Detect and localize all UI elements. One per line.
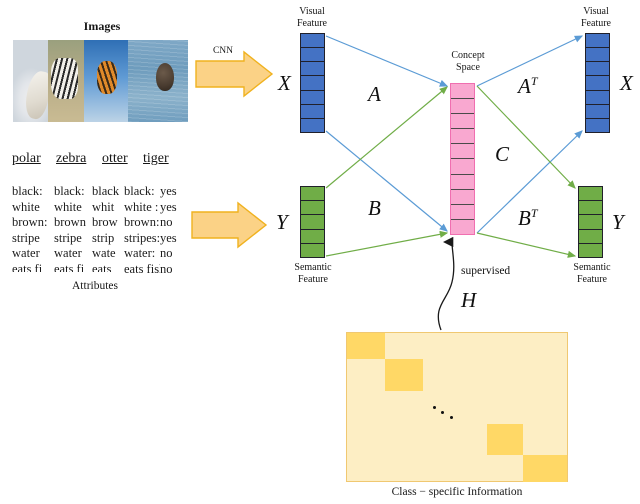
projection-label-AT-sup: T	[531, 74, 538, 88]
arrow-B-top	[326, 87, 447, 188]
projection-label-A: A	[368, 84, 381, 105]
arrow-A-top	[326, 36, 447, 86]
projection-label-C: C	[495, 144, 509, 165]
matrix-block-3	[487, 424, 523, 455]
matrix-block-2	[385, 359, 423, 391]
projection-label-AT: AT	[518, 76, 538, 97]
matrix-block-4	[523, 455, 567, 482]
supervision-arrow	[438, 242, 453, 330]
arrow-A-bottom	[326, 131, 447, 231]
projection-label-BT-sup: T	[531, 206, 538, 220]
projection-label-AT-base: A	[518, 74, 531, 98]
matrix-block-1	[347, 333, 385, 359]
projection-label-B: B	[368, 198, 381, 219]
matrix-ellipsis	[433, 405, 461, 421]
supervision-symbol-H: H	[461, 290, 476, 311]
arrow-BT-bottom	[477, 233, 575, 256]
projection-label-BT-base: B	[518, 206, 531, 230]
supervised-label: supervised	[461, 265, 510, 277]
class-specific-matrix	[346, 332, 568, 482]
figure-canvas: Images polar zebra otter tiger black: wh…	[0, 0, 640, 504]
projection-label-BT: BT	[518, 208, 538, 229]
class-matrix-caption: Class − specific Information	[346, 486, 568, 498]
arrow-BT-top	[477, 86, 575, 188]
arrow-B-bottom	[326, 233, 447, 256]
